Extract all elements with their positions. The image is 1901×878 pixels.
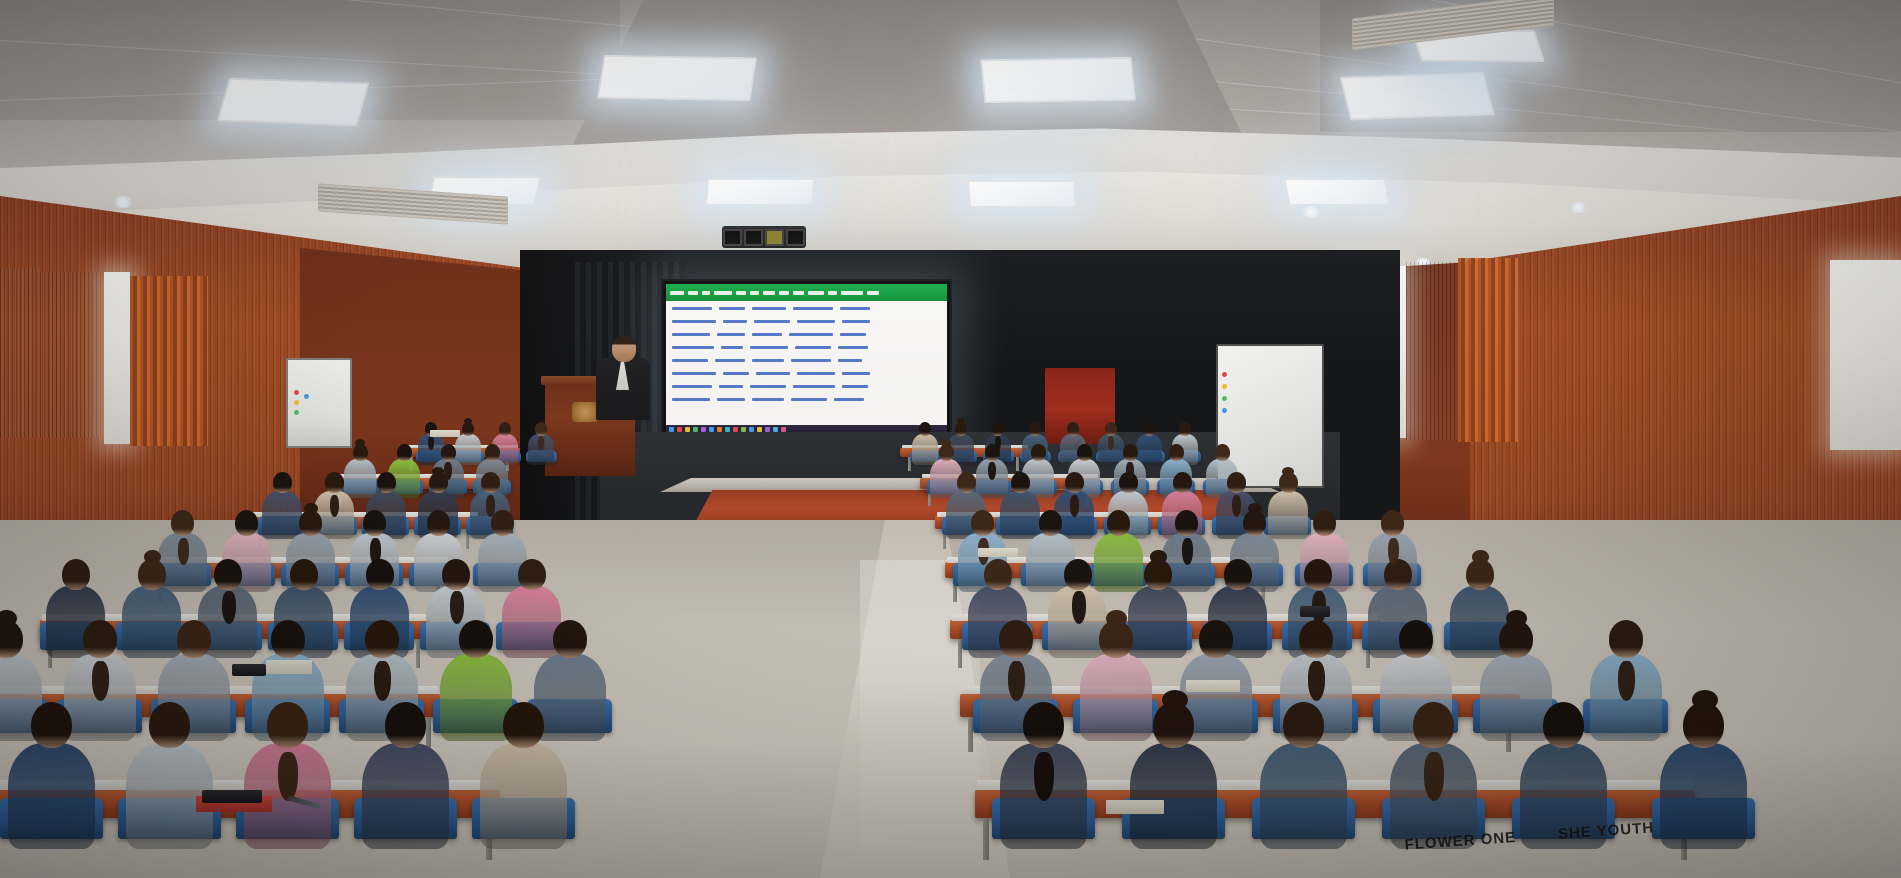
- audience-head: [1609, 620, 1643, 658]
- audience-hair-bun: [355, 439, 365, 447]
- audience-ponytail: [1034, 752, 1054, 801]
- audience-torso: [502, 586, 561, 658]
- audience-ponytail: [450, 591, 464, 624]
- audience-torso: [1000, 491, 1040, 539]
- lecture-hall-photo: FLOWER ONE SHE YOUTH: [0, 0, 1901, 878]
- audience-head: [1077, 444, 1092, 461]
- audience-head: [325, 472, 344, 493]
- audience-head: [955, 422, 967, 436]
- audience-ponytail: [995, 436, 1001, 450]
- audience-head: [177, 620, 211, 658]
- phone-on-desk: [1300, 606, 1330, 617]
- audience-torso: [1130, 743, 1217, 849]
- seating-area: [0, 0, 1901, 878]
- audience-head: [441, 444, 456, 461]
- audience-head: [1413, 702, 1454, 748]
- audience-hair-bun: [1248, 503, 1262, 514]
- audience-torso: [1128, 586, 1187, 658]
- audience-head: [535, 422, 547, 436]
- audience-ponytail: [92, 661, 109, 701]
- audience-head: [1169, 444, 1184, 461]
- audience-torso: [1480, 654, 1552, 741]
- audience-head: [377, 472, 396, 493]
- audience-hair-bun: [1282, 467, 1294, 476]
- audience-ponytail: [444, 462, 452, 480]
- audience-head: [235, 510, 258, 536]
- audience-torso: [534, 654, 606, 741]
- audience-head: [491, 510, 514, 536]
- audience-head: [1199, 620, 1233, 658]
- audience-hair-bun: [304, 503, 318, 514]
- audience-head: [1011, 472, 1030, 493]
- audience-ponytail: [538, 436, 544, 450]
- audience-ponytail: [222, 591, 236, 624]
- audience-head: [518, 559, 546, 590]
- audience-hair-bun: [957, 418, 965, 424]
- audience-torso: [1660, 743, 1747, 849]
- audience-ponytail: [486, 495, 495, 517]
- audience-ponytail: [370, 538, 381, 565]
- audience-head: [31, 702, 72, 748]
- audience-torso: [362, 743, 449, 849]
- audience-torso: [440, 654, 512, 741]
- notebook-on-desk: [978, 548, 1018, 557]
- audience-ponytail: [330, 495, 339, 517]
- audience-hair-bun: [1150, 550, 1167, 564]
- audience-ponytail: [1008, 661, 1025, 701]
- audience-torso: [122, 586, 181, 658]
- hoodie-text-right: SHE YOUTH: [1557, 819, 1655, 860]
- audience-head: [1031, 444, 1046, 461]
- audience-head: [1039, 510, 1062, 536]
- audience-ponytail: [1308, 661, 1325, 701]
- notebook-on-desk: [430, 430, 460, 437]
- audience-head: [1179, 422, 1191, 436]
- audience-torso: [480, 743, 567, 849]
- audience-head: [385, 702, 426, 748]
- audience-torso: [1268, 491, 1308, 539]
- audience-head: [1304, 559, 1332, 590]
- audience-head: [499, 422, 511, 436]
- audience-hair-bun: [144, 550, 161, 564]
- audience-head: [1023, 702, 1064, 748]
- audience-head: [1143, 422, 1155, 436]
- audience-head: [1173, 472, 1192, 493]
- audience-head: [971, 510, 994, 536]
- audience-head: [1029, 422, 1041, 436]
- audience-head: [992, 422, 1004, 436]
- audience-head: [1381, 510, 1404, 536]
- phone-on-desk: [232, 664, 266, 676]
- audience-head: [1064, 559, 1092, 590]
- audience-ponytail: [1182, 538, 1193, 565]
- audience-torso: [1260, 743, 1347, 849]
- audience-hair-bun: [1106, 610, 1127, 627]
- audience-ponytail: [1072, 591, 1086, 624]
- audience-head: [503, 702, 544, 748]
- audience-hair-bun: [1506, 610, 1527, 627]
- audience-head: [149, 702, 190, 748]
- audience-ponytail: [1108, 436, 1114, 450]
- desk-leg: [1016, 457, 1019, 471]
- audience-head: [214, 559, 242, 590]
- audience-head: [1299, 620, 1333, 658]
- audience-hair-bun: [464, 418, 472, 424]
- phone-on-desk: [202, 790, 262, 803]
- audience-head: [553, 620, 587, 658]
- audience-head: [1283, 702, 1324, 748]
- audience-ponytail: [178, 538, 189, 565]
- audience-head: [271, 620, 305, 658]
- audience-head: [83, 620, 117, 658]
- audience-head: [919, 422, 931, 436]
- audience-head: [1399, 620, 1433, 658]
- notebook-on-desk: [1186, 680, 1240, 692]
- desk-leg: [983, 818, 989, 860]
- audience-head: [62, 559, 90, 590]
- audience-head: [485, 444, 500, 461]
- audience-torso: [912, 434, 938, 465]
- audience-ponytail: [1126, 462, 1134, 480]
- audience-head: [999, 620, 1033, 658]
- audience-head: [366, 559, 394, 590]
- audience-torso: [455, 434, 481, 465]
- audience-head: [1067, 422, 1079, 436]
- audience-ponytail: [1070, 495, 1079, 517]
- audience-ponytail: [1424, 752, 1444, 801]
- audience-ponytail: [1388, 538, 1399, 565]
- audience-hair-bun: [941, 439, 951, 447]
- audience-head: [427, 510, 450, 536]
- audience-head: [171, 510, 194, 536]
- audience-head: [1105, 422, 1117, 436]
- audience-head: [984, 559, 1012, 590]
- audience-head: [365, 620, 399, 658]
- audience-head: [273, 472, 292, 493]
- audience-head: [442, 559, 470, 590]
- audience-head: [481, 472, 500, 493]
- notebook-on-desk: [266, 660, 312, 674]
- audience-head: [1224, 559, 1252, 590]
- audience-head: [290, 559, 318, 590]
- audience-hair-bun: [1692, 690, 1718, 710]
- notebook-on-desk: [1106, 800, 1164, 814]
- audience-torso: [8, 743, 95, 849]
- audience-head: [1175, 510, 1198, 536]
- audience-head: [462, 422, 474, 436]
- audience-head: [1313, 510, 1336, 536]
- audience-hair-bun: [432, 467, 444, 476]
- audience-torso: [1094, 533, 1143, 592]
- audience-ponytail: [374, 661, 391, 701]
- audience-ponytail: [428, 436, 434, 450]
- audience-head: [1543, 702, 1584, 748]
- audience-ponytail: [1232, 495, 1241, 517]
- audience-torso: [262, 491, 302, 539]
- audience-torso: [344, 459, 376, 498]
- audience-head: [459, 620, 493, 658]
- audience-head: [363, 510, 386, 536]
- audience-head: [1123, 444, 1138, 461]
- audience-head: [1107, 510, 1130, 536]
- audience-ponytail: [1618, 661, 1635, 701]
- audience-head: [1227, 472, 1246, 493]
- audience-head: [1065, 472, 1084, 493]
- audience-torso: [1080, 654, 1152, 741]
- audience-head: [397, 444, 412, 461]
- audience-head: [957, 472, 976, 493]
- audience-hair-bun: [1472, 550, 1489, 564]
- audience-ponytail: [278, 752, 298, 801]
- audience-head: [267, 702, 308, 748]
- audience-hair-bun: [1162, 690, 1188, 710]
- audience-ponytail: [988, 462, 996, 480]
- audience-head: [1384, 559, 1412, 590]
- audience-head: [1215, 444, 1230, 461]
